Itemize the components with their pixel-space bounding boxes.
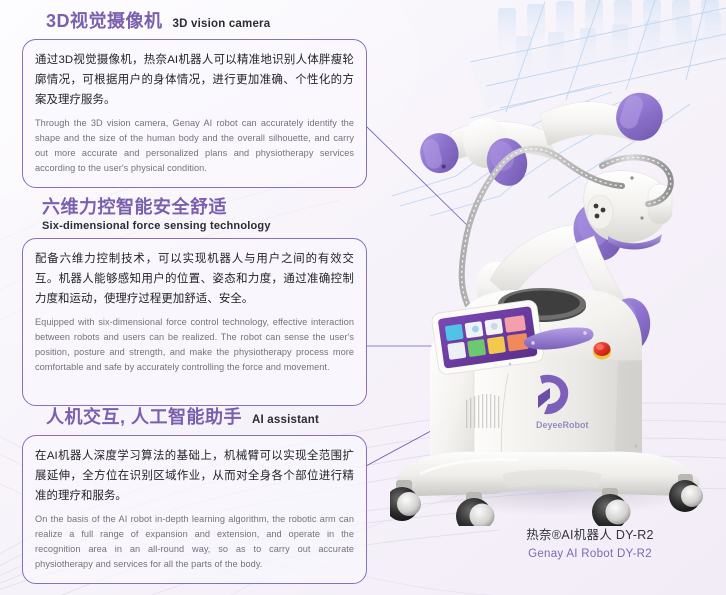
app-tile [447, 342, 466, 360]
feature-body-en: Through the 3D vision camera, Genay AI r… [35, 116, 354, 176]
top-recess [498, 290, 586, 322]
feature-title-cn: 3D视觉摄像机 [46, 10, 163, 33]
feature-heading: 六维力控智能安全舒适 Six-dimensional force sensing… [22, 196, 367, 232]
feature-body-cn: 配备六维力控制技术，可以实现机器人与用户之间的有效交互。机器人能够感知用户的位置… [35, 249, 354, 310]
robot-body: DeyeeRobot [430, 288, 642, 484]
feature-block-3d-vision-camera: 3D视觉摄像机 3D vision camera 通过3D视觉摄像机，热奈AI机… [22, 10, 367, 188]
feature-body-cn: 通过3D视觉摄像机，热奈AI机器人可以精准地识别人体胖瘦轮廓情况，可根据用户的身… [35, 50, 354, 111]
feature-heading: 人机交互, 人工智能助手 AI assistant [22, 406, 367, 429]
app-tile [484, 318, 503, 335]
app-tile [487, 336, 506, 354]
robot-caption-cn: 热奈®AI机器人 DY-R2 [470, 524, 710, 543]
caster-wheel [456, 492, 495, 526]
feature-body-cn: 在AI机器人深度学习算法的基础上，机械臂可以实现全范围扩展延伸，全方位在识别区域… [35, 446, 354, 507]
feature-heading: 3D视觉摄像机 3D vision camera [22, 10, 367, 33]
arm-joint [416, 129, 463, 177]
floor-shadow [410, 456, 706, 516]
feature-card: 配备六维力控制技术，可以实现机器人与用户之间的有效交互。机器人能够感知用户的位置… [22, 238, 367, 406]
feature-title-en: Six-dimensional force sensing technology [42, 220, 367, 232]
robot-caption: 热奈®AI机器人 DY-R2 Genay AI Robot DY-R2 [470, 524, 710, 560]
arm-joint [566, 197, 630, 267]
feature-title-en: AI assistant [252, 414, 319, 426]
feature-body-en: On the basis of the AI robot in-depth le… [35, 512, 354, 572]
app-tile [504, 315, 526, 333]
caster-wheel [669, 474, 703, 512]
robot-illustration: DeyeeRobot [390, 74, 726, 526]
feature-title-cn: 六维力控智能安全舒适 [42, 197, 227, 217]
robot-cable [462, 149, 622, 306]
poster-canvas: DeyeeRobot [0, 0, 726, 595]
end-effector [584, 171, 672, 250]
caster-wheel [592, 488, 631, 526]
feature-card: 在AI机器人深度学习算法的基础上，机械臂可以实现全范围扩展延伸，全方位在识别区域… [22, 435, 367, 585]
feature-block-six-dimensional-force-sensing: 六维力控智能安全舒适 Six-dimensional force sensing… [22, 196, 367, 406]
app-tile [465, 321, 484, 338]
carry-handle[interactable] [524, 327, 594, 349]
arm-joint [601, 295, 654, 358]
arm-joint [610, 87, 669, 147]
callout-connector-lines [366, 126, 520, 466]
vent-grille [466, 394, 499, 428]
feature-title-en: 3D vision camera [173, 18, 271, 30]
feature-body-en: Equipped with six-dimensional force cont… [35, 315, 354, 375]
feature-block-ai-assistant: 人机交互, 人工智能助手 AI assistant 在AI机器人深度学习算法的基… [22, 406, 367, 584]
app-tile [467, 339, 486, 357]
touchscreen-display [438, 306, 538, 369]
app-tile [507, 333, 529, 352]
arm-joint [482, 134, 531, 189]
svg-text:DeyeeRobot: DeyeeRobot [536, 420, 589, 430]
feature-card: 通过3D视觉摄像机，热奈AI机器人可以精准地识别人体胖瘦轮廓情况，可根据用户的身… [22, 39, 367, 189]
touchscreen-panel[interactable] [431, 299, 545, 375]
robot-caption-en: Genay AI Robot DY-R2 [470, 548, 710, 560]
robot-arm [416, 87, 672, 358]
brand-logo: DeyeeRobot [536, 375, 589, 430]
feature-title-cn: 人机交互, 人工智能助手 [46, 406, 242, 429]
robot-base [397, 452, 699, 496]
caster-wheel [390, 480, 421, 521]
emergency-stop-button[interactable] [593, 342, 611, 360]
app-tile [445, 324, 464, 341]
